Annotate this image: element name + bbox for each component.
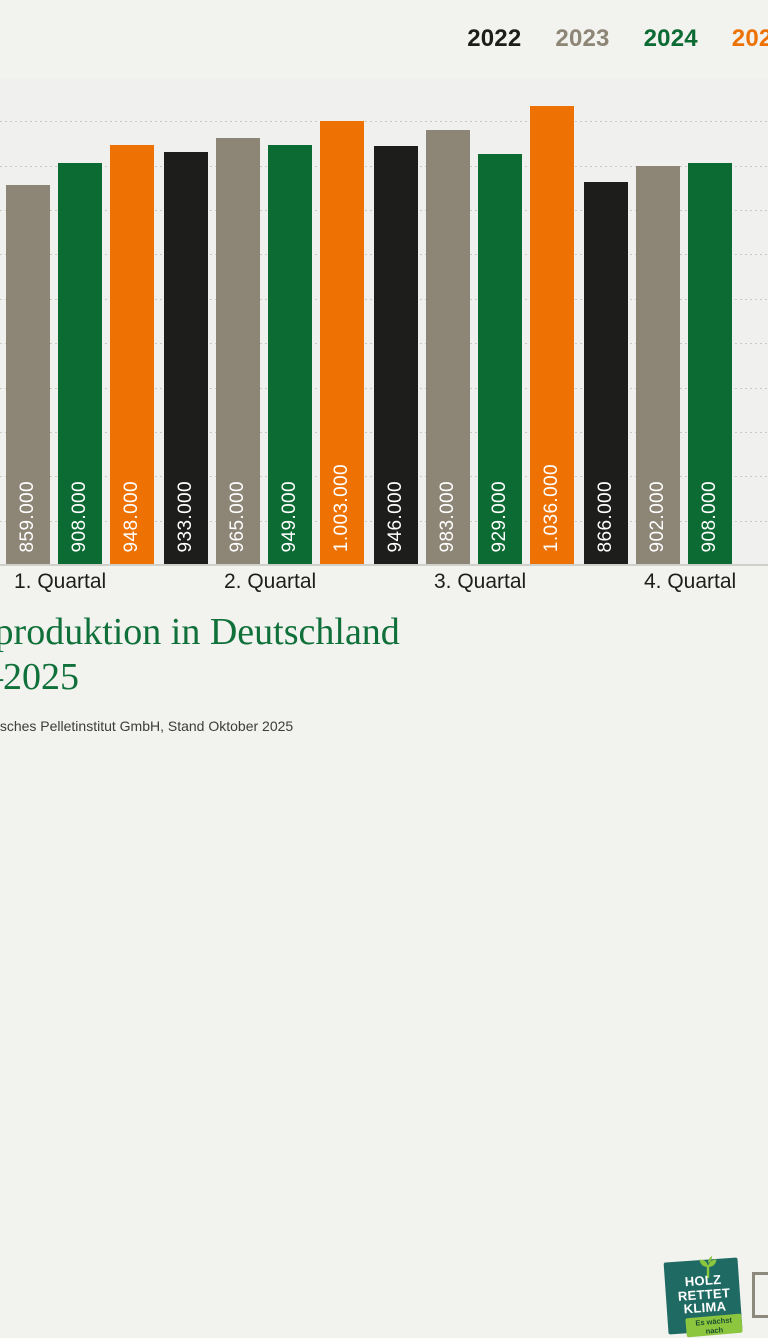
bar-2025-q1: 948.000 <box>110 145 154 566</box>
legend-item-2024: 2024 <box>644 25 698 53</box>
bar-value-label: 933.000 <box>175 481 197 552</box>
bar-value-label: 949.000 <box>279 481 301 552</box>
bar-group: 824.000859.000908.000948.000 <box>0 78 154 566</box>
bar-2023-q2: 965.000 <box>216 138 260 566</box>
category-label-q4: 4. Quartal <box>644 570 736 594</box>
chart-bar-groups: 824.000859.000908.000948.000933.000965.0… <box>0 78 768 566</box>
secondary-logo-partial <box>752 1272 768 1318</box>
category-label-q3: 3. Quartal <box>434 570 526 594</box>
bar-value-label: 948.000 <box>121 481 143 552</box>
bar-value-label: 908.000 <box>69 481 91 552</box>
category-label-q1: 1. Quartal <box>14 570 106 594</box>
bar-value-label: 902.000 <box>647 481 669 552</box>
bar-group: 933.000965.000949.0001.003.000 <box>164 78 364 566</box>
bar-2022-q2: 933.000 <box>164 152 208 566</box>
bar-value-label: 866.000 <box>595 481 617 552</box>
chart-source: Quelle: Deutsches Pelletinstitut GmbH, S… <box>0 718 293 734</box>
bar-value-label: 1.003.000 <box>331 464 353 552</box>
bar-value-label: 908.000 <box>699 481 721 552</box>
bar-2025-q2: 1.003.000 <box>320 121 364 566</box>
legend-item-2025: 2025 <box>732 25 768 53</box>
bar-2024-q3: 929.000 <box>478 154 522 566</box>
logo-tagline: Es wächst nach <box>685 1314 742 1338</box>
chart-plot-area: 824.000859.000908.000948.000933.000965.0… <box>0 78 768 566</box>
chart-footer: Pelletproduktion in Deutschland 2022–202… <box>0 608 768 768</box>
bar-2025-q3: 1.036.000 <box>530 106 574 566</box>
chart-category-axis: 1. Quartal2. Quartal3. Quartal4. Quartal <box>0 566 768 608</box>
bar-value-label: 965.000 <box>227 481 249 552</box>
bar-2024-q2: 949.000 <box>268 145 312 566</box>
bar-2022-q4: 866.000 <box>584 182 628 566</box>
bar-2023-q1: 859.000 <box>6 185 50 566</box>
bar-2023-q3: 983.000 <box>426 130 470 566</box>
bar-group: 866.000902.000908.000 <box>584 78 768 566</box>
chart-title-line1: Pelletproduktion in Deutschland <box>0 611 400 653</box>
legend-item-2023: 2023 <box>555 25 609 53</box>
bar-2022-q3: 946.000 <box>374 146 418 566</box>
bar-value-label: 859.000 <box>17 481 39 552</box>
bar-value-label: 1.036.000 <box>541 464 563 552</box>
chart-title-line2: 2022–2025 <box>0 655 668 700</box>
holz-rettet-klima-logo: HOLZ RETTET KLIMA Es wächst nach <box>664 1254 750 1338</box>
chart-page: 2022 2023 2024 2025 824.000859.000908.00… <box>0 0 768 768</box>
bar-value-label: 983.000 <box>437 481 459 552</box>
bar-value-label: 929.000 <box>489 481 511 552</box>
chart-title: Pelletproduktion in Deutschland 2022–202… <box>0 610 668 700</box>
bar-2024-q4: 908.000 <box>688 163 732 566</box>
bar-value-label: 946.000 <box>385 481 407 552</box>
chart-legend: 2022 2023 2024 2025 <box>0 0 768 78</box>
bar-group: 946.000983.000929.0001.036.000 <box>374 78 574 566</box>
logo-wordmark: HOLZ RETTET KLIMA <box>667 1272 742 1317</box>
category-label-q2: 2. Quartal <box>224 570 316 594</box>
bar-2024-q1: 908.000 <box>58 163 102 566</box>
legend-item-2022: 2022 <box>467 25 521 53</box>
bar-2023-q4: 902.000 <box>636 166 680 566</box>
